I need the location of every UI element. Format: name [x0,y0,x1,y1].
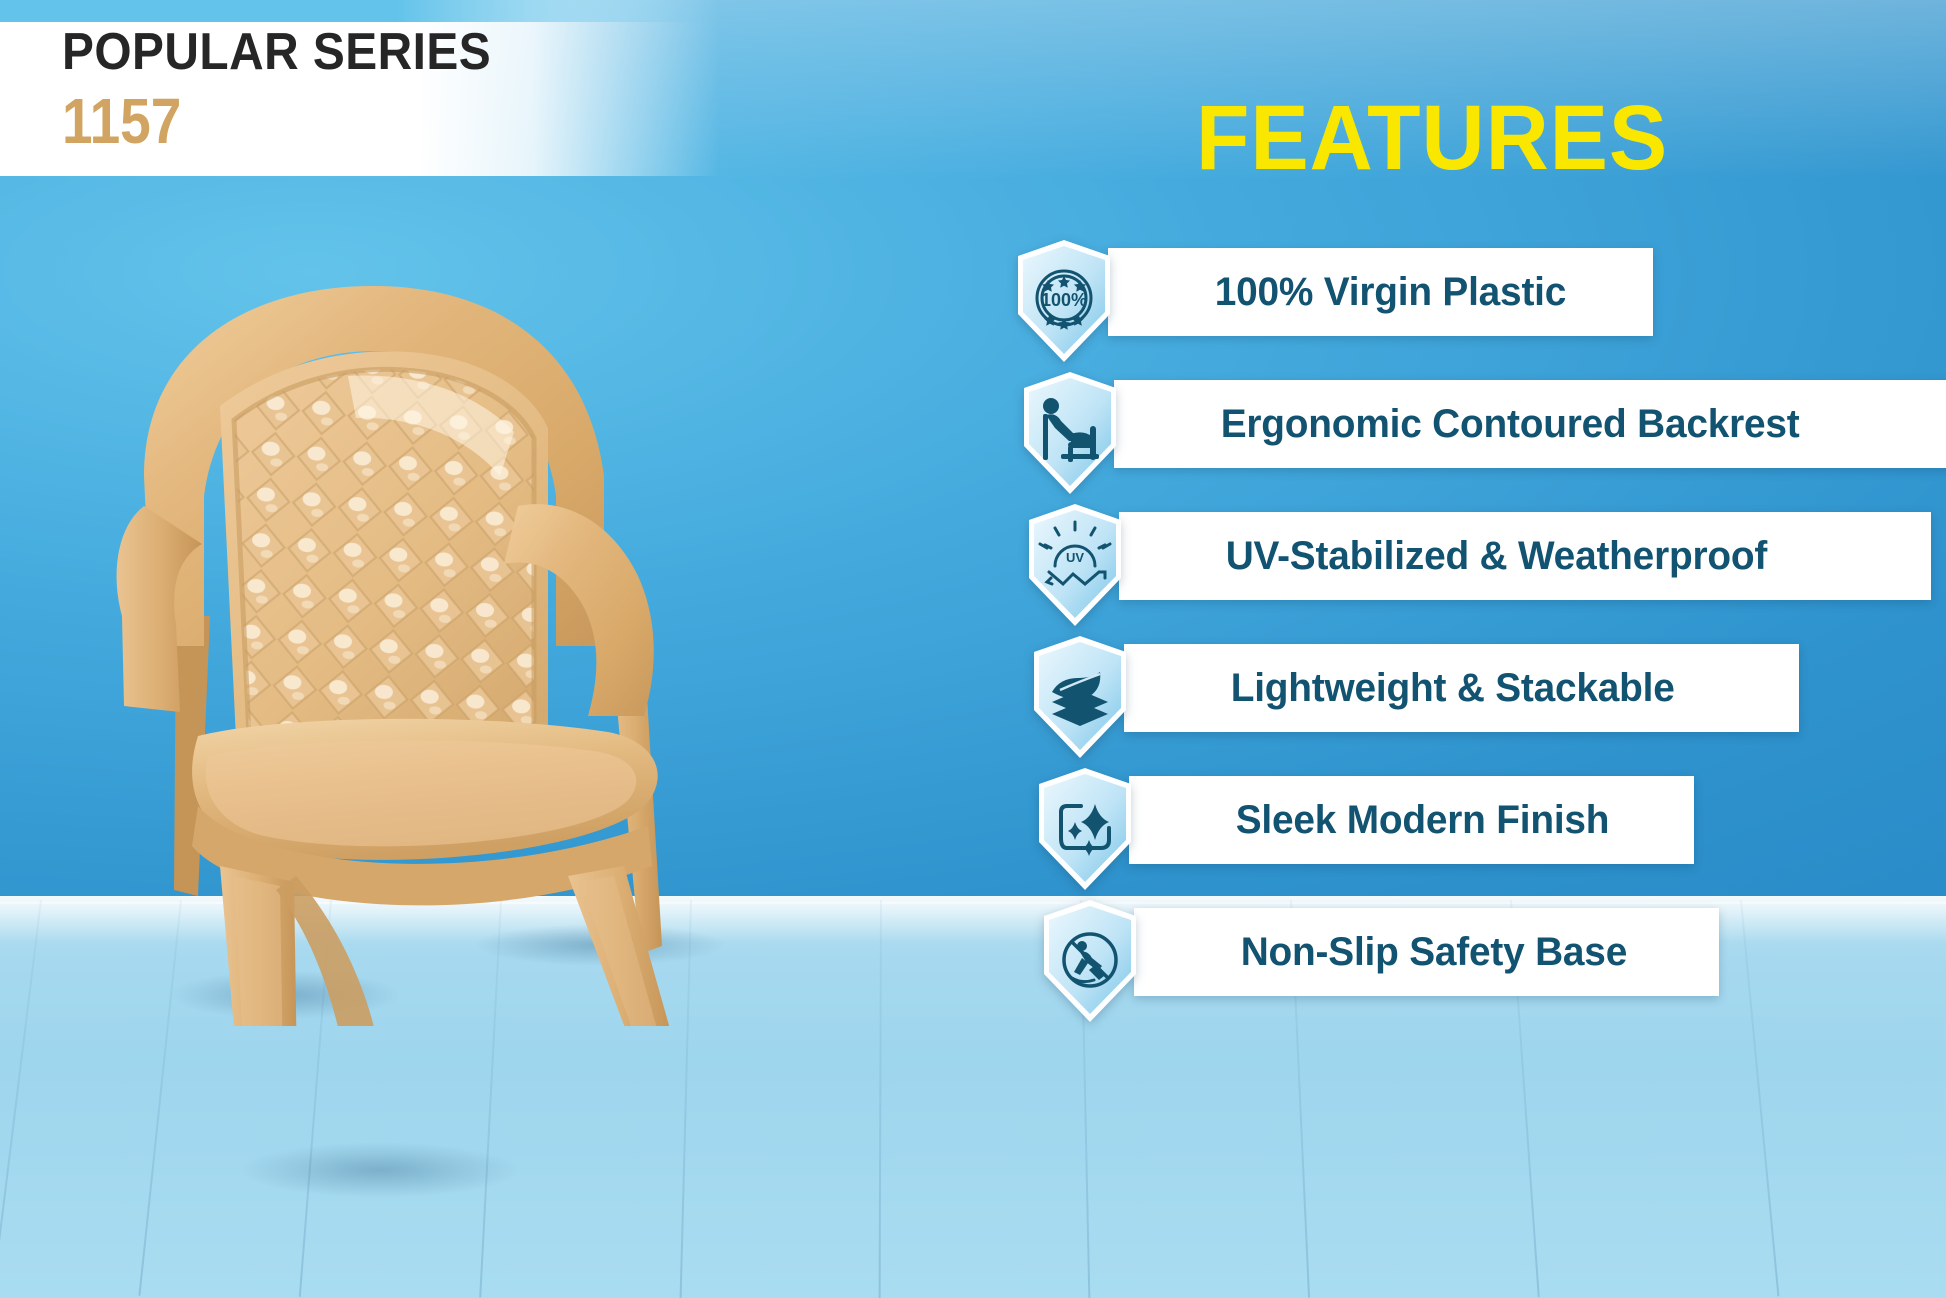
feature-label: 100% Virgin Plastic [1108,270,1599,315]
svg-text:100%: 100% [1041,290,1087,310]
feature-label: Non-Slip Safety Base [1134,930,1660,975]
no-slipping-icon [1036,896,1144,1026]
feather-stacked-layers-icon [1026,632,1134,762]
product-feature-poster: POPULAR SERIES 1157 FEATURES 100% Virgin… [0,0,1946,1298]
chair-shadow-front [180,1130,580,1210]
sparkle-shine-icon [1031,764,1139,894]
feature-label: UV-Stabilized & Weatherproof [1119,534,1800,579]
person-sitting-chair-icon [1016,368,1124,498]
series-label: POPULAR SERIES [62,22,491,82]
feature-card: Sleek Modern Finish [1129,776,1694,864]
feature-card: Ergonomic Contoured Backrest [1114,380,1946,468]
svg-text:UV: UV [1066,550,1084,565]
uv-sun-shield-icon: UV [1021,500,1129,630]
feature-card: UV-Stabilized & Weatherproof [1119,512,1931,600]
features-heading: FEATURES [1196,92,1668,184]
feature-label: Lightweight & Stackable [1124,666,1708,711]
feature-card: 100% Virgin Plastic [1108,248,1653,336]
feature-card: Non-Slip Safety Base [1134,908,1719,996]
feature-card: Lightweight & Stackable [1124,644,1799,732]
model-number: 1157 [62,84,181,158]
header-banner-top-strip [0,0,720,22]
feature-label: Ergonomic Contoured Backrest [1114,402,1833,447]
feature-label: Sleek Modern Finish [1129,798,1642,843]
plastic-armchair-image [48,176,708,1026]
hundred-percent-seal-icon: 100% [1010,236,1118,366]
